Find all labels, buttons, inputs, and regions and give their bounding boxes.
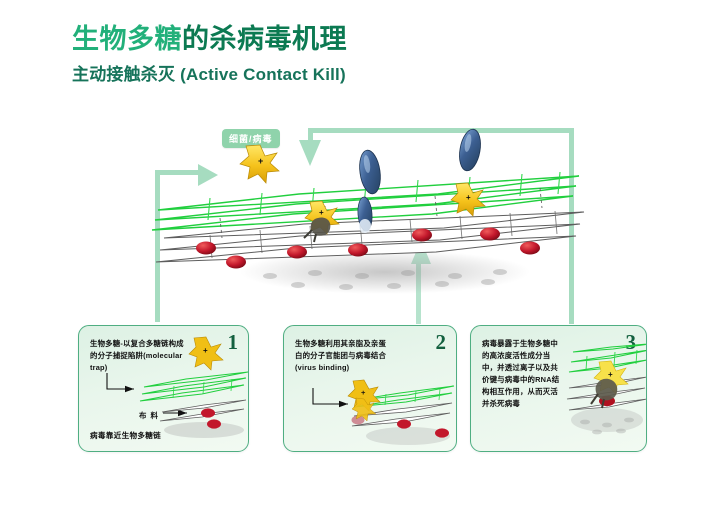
step-panel-2[interactable]: 2 生物多糖利用其亲脂及亲蛋白的分子官能团与病毒结合(virus binding… (283, 325, 457, 452)
step-panel-3[interactable]: 3 病毒暴露于生物多糖中的高浓度活性成分当中，并透过离子以及共价键与病毒中的RN… (470, 325, 647, 452)
panel-3-description: 病毒暴露于生物多糖中的高浓度活性成分当中，并透过离子以及共价键与病毒中的RNA结… (482, 338, 560, 410)
panel-1-mesh-illustration (134, 372, 249, 444)
panel-3-pathogen-body (596, 379, 618, 401)
page-subtitle: 主动接触杀灭 (Active Contact Kill) (72, 60, 347, 85)
svg-text:+: + (258, 156, 263, 166)
panel-1-mesh-struts (173, 379, 232, 398)
step-panel-1[interactable]: 1 生物多糖-以复合多糖链构成的分子捕捉陷阱(molecular trap) 病… (78, 325, 249, 452)
polysaccharide-mesh-struts (208, 172, 560, 220)
pathogen-particle-free: + (240, 145, 279, 183)
virus-capsule-right (457, 128, 484, 173)
panel-1-shadow (164, 422, 244, 438)
panel-1-red-dot-b (207, 419, 221, 428)
panel-1-red-dot-a (201, 408, 215, 417)
svg-text:+: + (319, 208, 324, 217)
svg-text:+: + (203, 346, 208, 355)
panel-2-red-dot-b (397, 419, 411, 428)
panel-1-polysaccharide-mesh (140, 372, 248, 401)
panel-2-pathogen-bound: + (346, 378, 382, 422)
svg-text:+: + (608, 370, 613, 379)
panel-3-pathogen-destroyed: + (589, 360, 631, 412)
title-main-line: 生物多糖的杀病毒机理 (72, 24, 347, 54)
panel-2-red-dot-c (435, 428, 449, 437)
title-accent-text: 生物多糖 (72, 24, 182, 54)
main-mesh-illustration: + + + (150, 140, 590, 310)
panel-1-pathogen-particle: + (189, 334, 223, 370)
svg-text:+: + (466, 193, 471, 202)
virus-capsule-penetrating (357, 197, 373, 233)
page-title: 生物多糖的杀病毒机理 主动接触杀灭 (Active Contact Kill) (72, 24, 347, 85)
diagram-canvas: 生物多糖的杀病毒机理 主动接触杀灭 (Active Contact Kill) … (0, 0, 720, 518)
flow-line-top-horizontal (308, 128, 574, 133)
svg-text:+: + (361, 388, 366, 397)
title-rest-text: 的杀病毒机理 (182, 24, 347, 54)
